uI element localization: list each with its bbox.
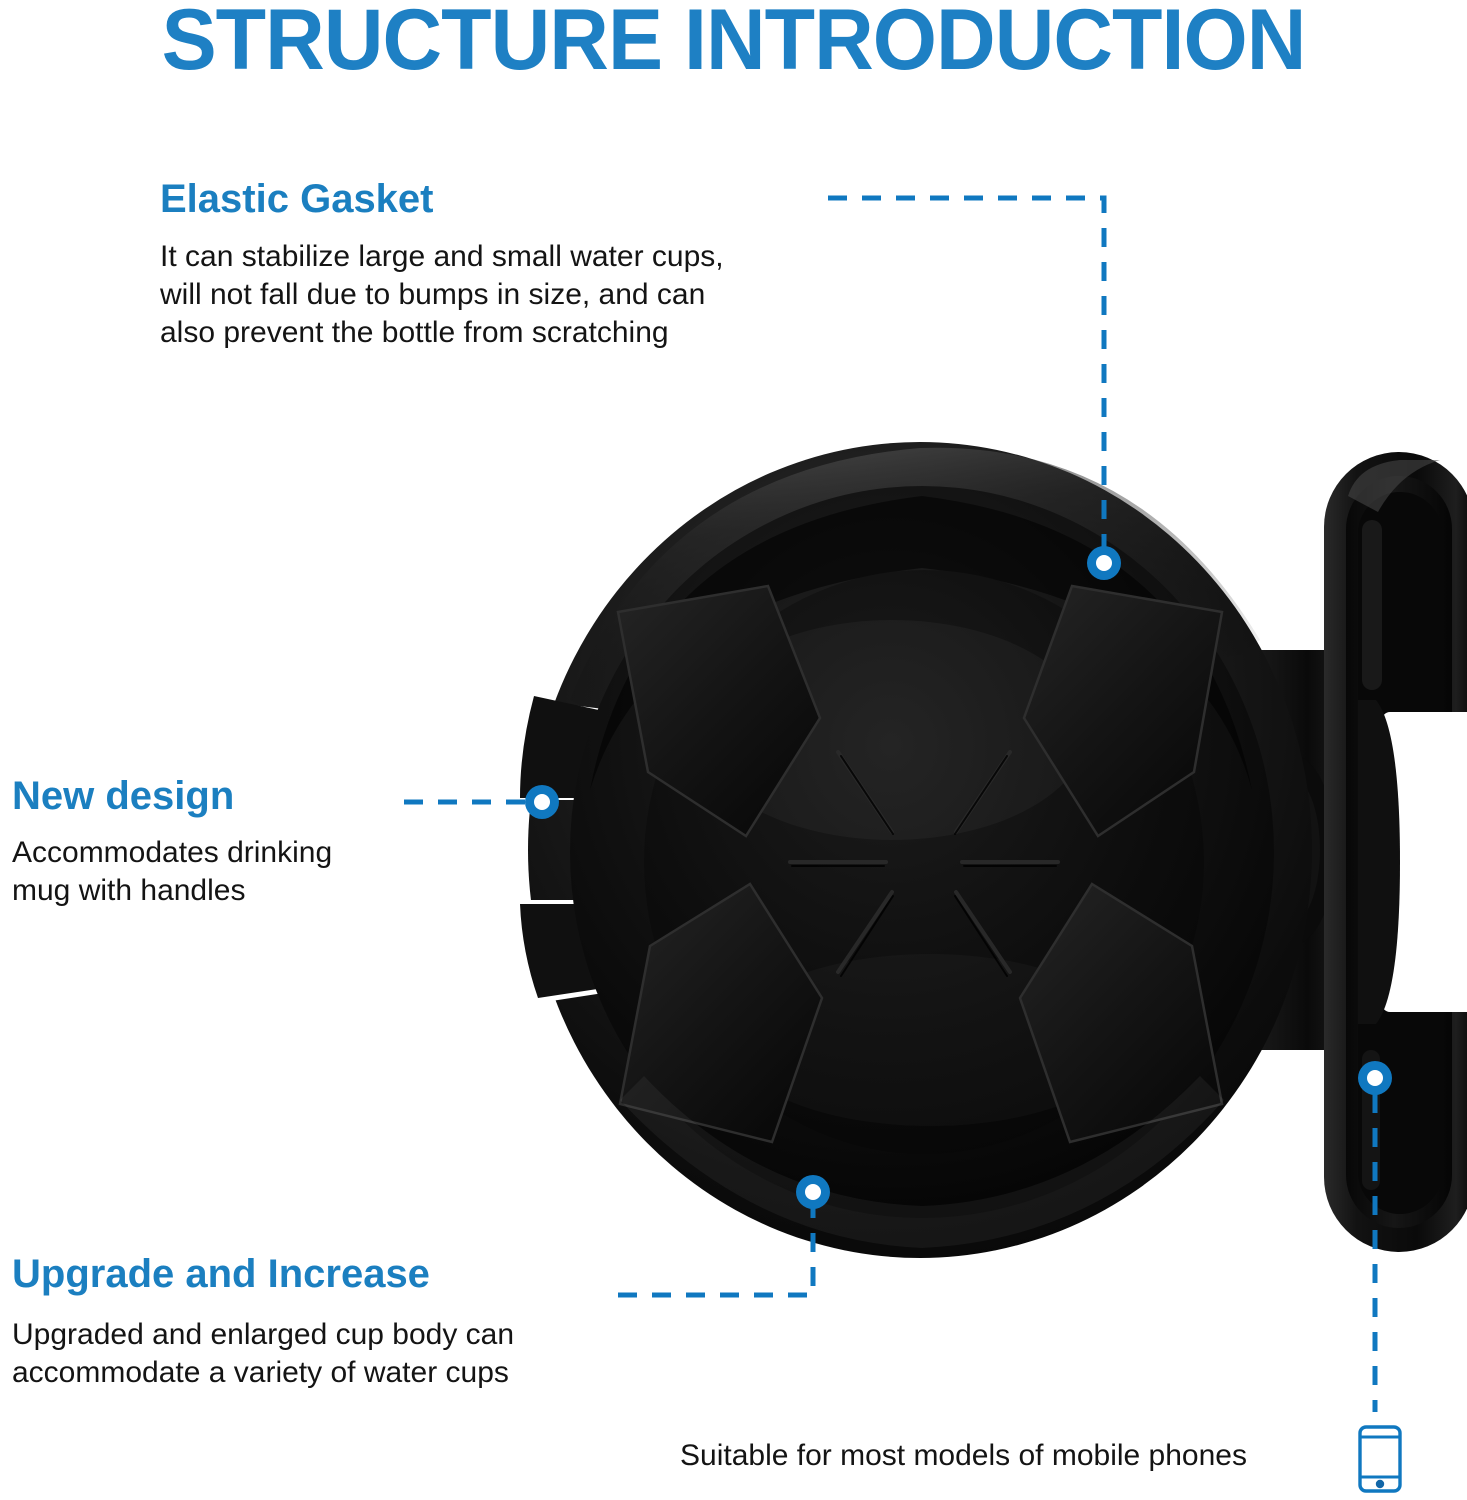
callout-heading-elastic-gasket: Elastic Gasket (160, 175, 434, 223)
callout-body-elastic-gasket: It can stabilize large and small water c… (160, 238, 724, 352)
phone-compatibility-note: Suitable for most models of mobile phone… (680, 1437, 1247, 1475)
callout-heading-new-design: New design (12, 772, 234, 820)
mobile-phone-icon (1357, 1424, 1403, 1494)
cup-holder-bowl (514, 442, 1312, 1258)
callout-heading-upgrade-and-increase: Upgrade and Increase (12, 1250, 430, 1298)
product-image-car-cup-holder (500, 400, 1467, 1300)
infographic-page: STRUCTURE INTRODUCTION (0, 0, 1467, 1500)
callout-body-new-design: Accommodates drinking mug with handles (12, 834, 332, 910)
callout-body-upgrade-and-increase: Upgraded and enlarged cup body can accom… (12, 1316, 514, 1392)
page-title: STRUCTURE INTRODUCTION (29, 0, 1437, 88)
